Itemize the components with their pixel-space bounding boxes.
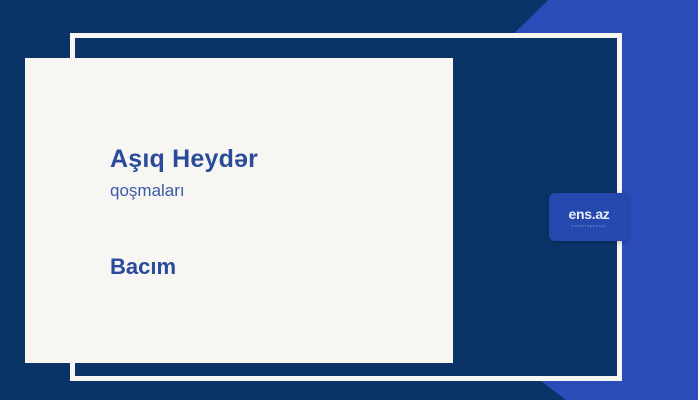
poster-canvas: Aşıq Heydər qoşmaları Bacım ens.az ensik…	[0, 0, 698, 400]
page-title: Aşıq Heydər	[110, 146, 435, 174]
content-card-text-block: Aşıq Heydər qoşmaları Bacım	[110, 146, 435, 279]
content-card: Aşıq Heydər qoşmaları Bacım	[25, 58, 453, 363]
ens-az-watermark-badge[interactable]: ens.az ensiklopediya	[549, 193, 629, 241]
work-title: Bacım	[110, 255, 435, 279]
page-subtitle: qoşmaları	[110, 182, 435, 201]
watermark-brand-label: ens.az	[569, 207, 610, 221]
watermark-tagline-label: ensiklopediya	[572, 224, 607, 228]
